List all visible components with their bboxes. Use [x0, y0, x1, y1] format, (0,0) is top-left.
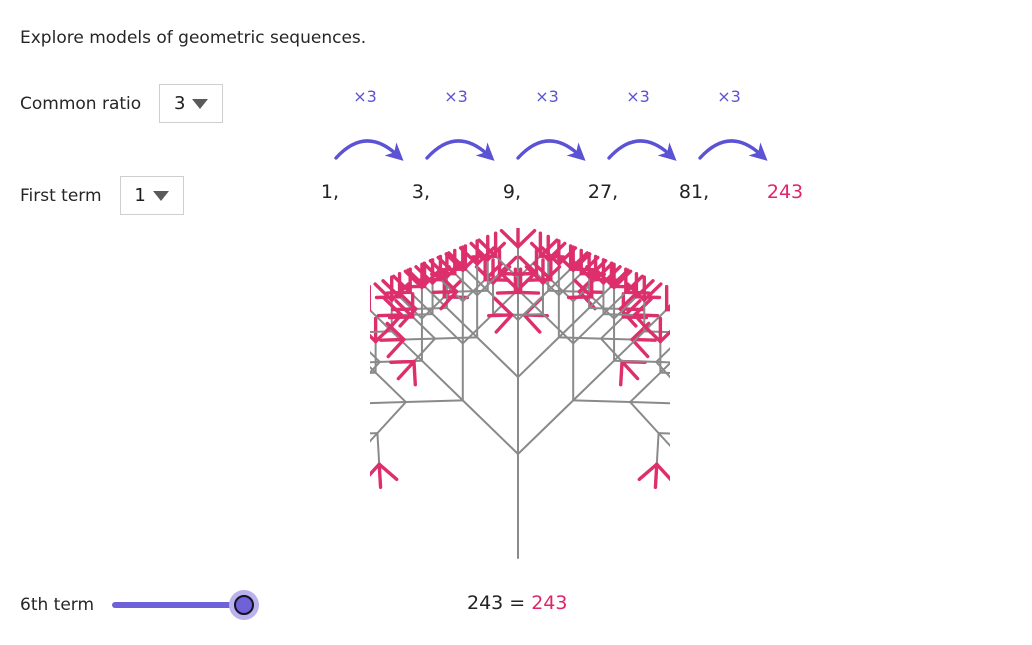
chevron-down-icon [153, 191, 169, 201]
equation-right: 243 [531, 592, 567, 614]
multiplication-arrows [300, 112, 820, 172]
term-slider[interactable] [112, 590, 262, 620]
slider-track[interactable] [112, 602, 246, 608]
first-term-control: First term 1 [20, 176, 184, 215]
sequence-strip: ×3 ×3 ×3 ×3 ×3 1, 3, 9, 27, 81, 243 [300, 80, 840, 210]
sequence-term-5: 81, [664, 181, 724, 203]
arrow-label-1: ×3 [345, 87, 385, 106]
slider-knob[interactable] [229, 590, 259, 620]
first-term-dropdown[interactable]: 1 [120, 176, 184, 215]
term-slider-label: 6th term [20, 595, 94, 615]
common-ratio-dropdown[interactable]: 3 [159, 84, 223, 123]
sequence-term-4: 27, [573, 181, 633, 203]
first-term-label: First term [20, 186, 102, 206]
sequence-term-6: 243 [755, 181, 815, 203]
common-ratio-value: 3 [174, 95, 185, 113]
common-ratio-control: Common ratio 3 [20, 84, 223, 123]
equation-operator: = [509, 592, 525, 614]
arrow-label-4: ×3 [618, 87, 658, 106]
first-term-value: 1 [134, 187, 145, 205]
term-slider-control: 6th term [20, 590, 262, 620]
equation-left: 243 [467, 592, 503, 614]
intro-text: Explore models of geometric sequences. [20, 28, 366, 48]
arrow-label-5: ×3 [709, 87, 749, 106]
chevron-down-icon [192, 99, 208, 109]
slider-knob-inner [234, 595, 254, 615]
arrow-label-2: ×3 [436, 87, 476, 106]
fractal-tree-graphic [370, 228, 670, 568]
sequence-term-3: 9, [482, 181, 542, 203]
sequence-term-1: 1, [300, 181, 360, 203]
arrow-label-3: ×3 [527, 87, 567, 106]
sequence-term-2: 3, [391, 181, 451, 203]
common-ratio-label: Common ratio [20, 94, 141, 114]
equation: 243=243 [467, 592, 567, 614]
